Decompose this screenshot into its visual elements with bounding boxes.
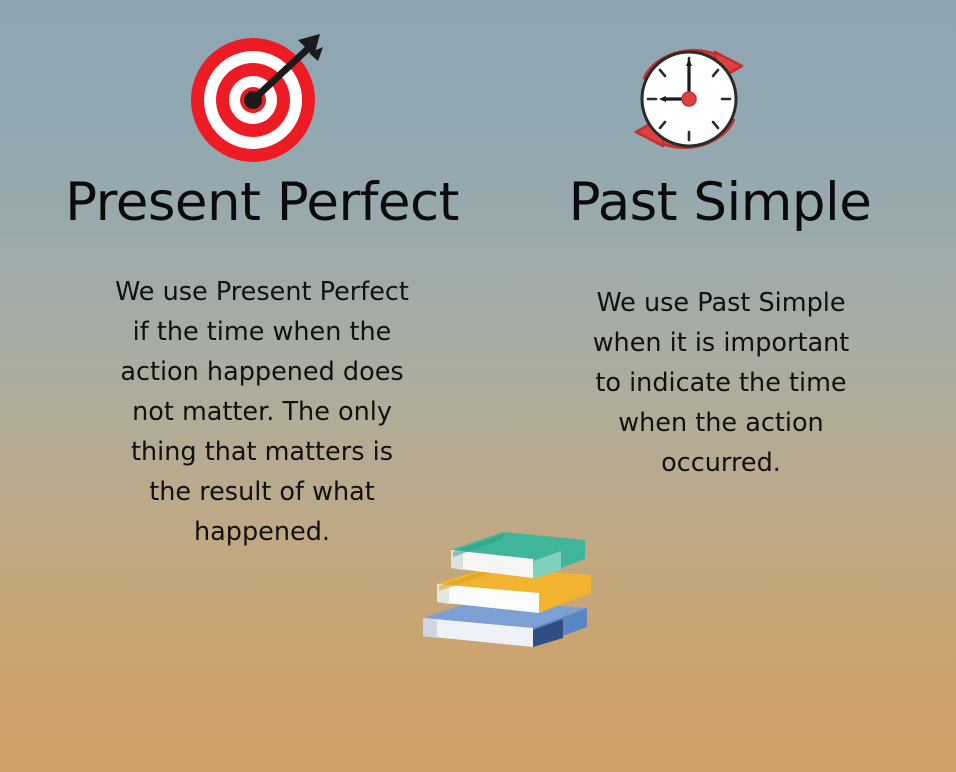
target-dartboard-icon — [190, 30, 330, 165]
heading-present-perfect: Present Perfect — [42, 172, 482, 234]
slide-canvas: Present Perfect We use Present Perfect i… — [0, 0, 956, 772]
heading-past-simple: Past Simple — [520, 172, 920, 234]
stacked-books-icon — [415, 518, 595, 663]
clock-history-icon — [620, 32, 760, 167]
body-text-present-perfect: We use Present Perfect if the time when … — [108, 272, 416, 552]
body-text-past-simple: We use Past Simple when it is important … — [590, 283, 852, 483]
column-present-perfect: Present Perfect We use Present Perfect i… — [40, 0, 480, 772]
